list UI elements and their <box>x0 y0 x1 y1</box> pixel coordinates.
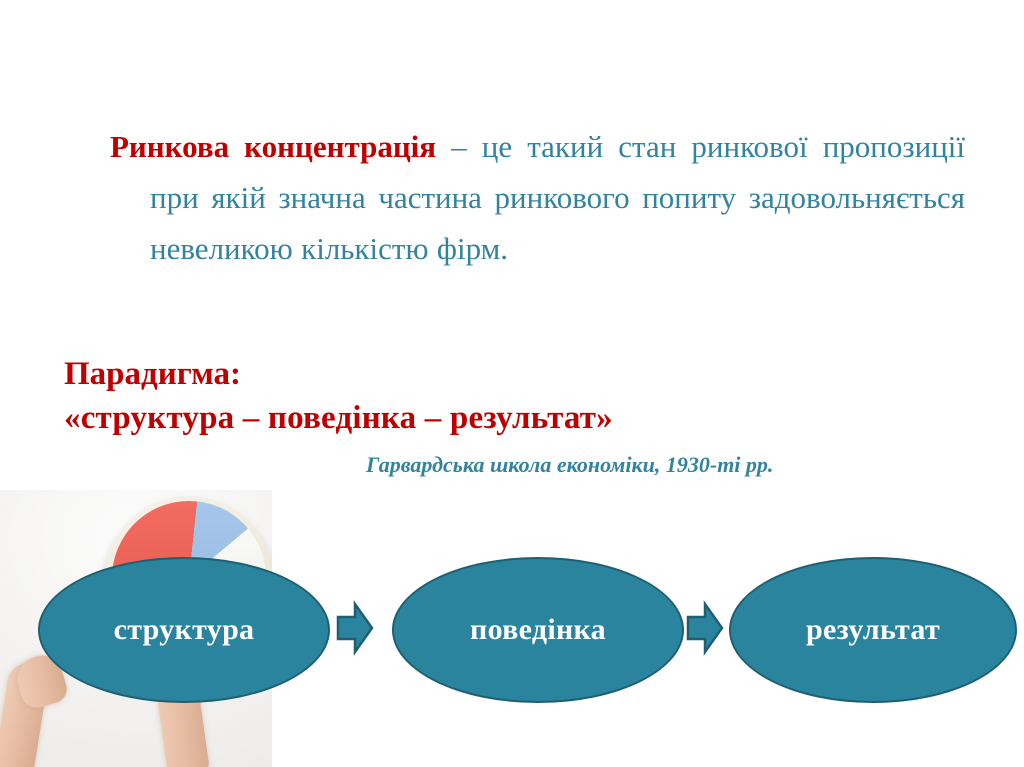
definition-dash: – <box>451 129 467 164</box>
arrow-right-icon <box>336 600 374 656</box>
paradigm-block: Парадигма: «структура – поведінка – резу… <box>64 352 613 440</box>
paradigm-attribution: Гарвардська школа економіки, 1930-ті рр. <box>366 452 773 478</box>
flow-node-result: результат <box>729 557 1017 703</box>
pie-shading <box>112 501 266 655</box>
arrow-right-icon <box>686 600 724 656</box>
definition-paragraph: Ринкова концентрація – це такий стан рин… <box>150 121 965 274</box>
paradigm-heading: Парадигма: <box>64 352 613 396</box>
definition-term: Ринкова концентрація <box>110 129 436 164</box>
flow-node-result-label: результат <box>806 613 940 647</box>
pie-chart-icon <box>112 501 266 655</box>
slide-canvas: Ринкова концентрація – це такий стан рин… <box>0 0 1024 767</box>
flow-node-behaviour-label: поведінка <box>470 613 606 647</box>
pie-chart-photo <box>0 490 272 767</box>
paradigm-formula: «структура – поведінка – результат» <box>64 396 613 440</box>
flow-node-behaviour: поведінка <box>392 557 684 703</box>
